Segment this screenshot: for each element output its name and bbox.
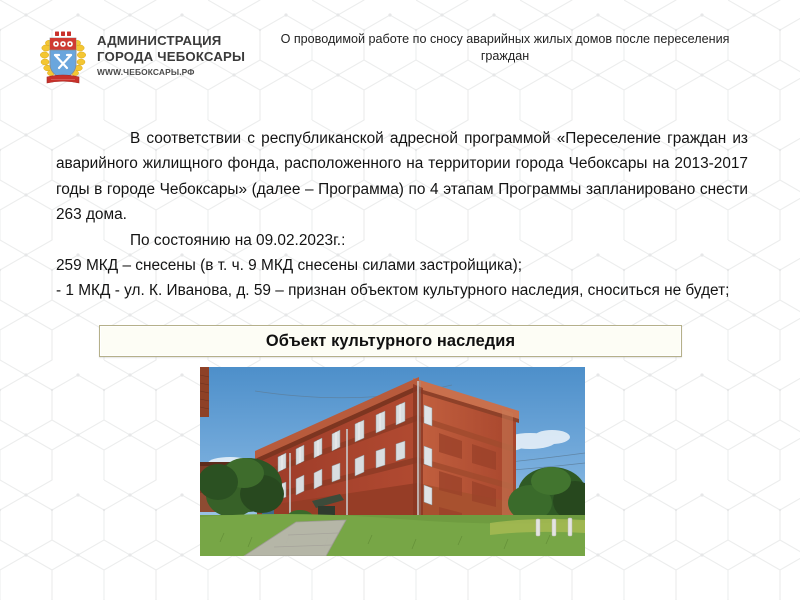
coat-of-arms-icon [38, 28, 88, 86]
paragraph-program-description: В соответствии с республиканской адресно… [56, 126, 748, 228]
administration-logo: АДМИНИСТРАЦИЯ ГОРОДА ЧЕБОКСАРЫ WWW.ЧЕБОК… [38, 28, 245, 86]
line-heritage-exception: - 1 МКД - ул. К. Иванова, д. 59 – призна… [56, 278, 748, 303]
logo-line-administration: АДМИНИСТРАЦИЯ [97, 33, 245, 49]
slide-header: АДМИНИСТРАЦИЯ ГОРОДА ЧЕБОКСАРЫ WWW.ЧЕБОК… [0, 0, 800, 112]
heritage-building-photo: Трёхэтажное историческое здание из красн… [200, 367, 585, 556]
heritage-caption-label: Объект культурного наследия [266, 333, 515, 349]
presentation-slide: АДМИНИСТРАЦИЯ ГОРОДА ЧЕБОКСАРЫ WWW.ЧЕБОК… [0, 0, 800, 600]
line-status-date: По состоянию на 09.02.2023г.: [56, 228, 748, 253]
logo-line-city: ГОРОДА ЧЕБОКСАРЫ [97, 49, 245, 65]
slide-body-text: В соответствии с республиканской адресно… [56, 126, 748, 304]
heritage-caption-banner: Объект культурного наследия [99, 325, 682, 357]
line-demolished-count: 259 МКД – снесены (в т. ч. 9 МКД снесены… [56, 253, 748, 278]
logo-text-block: АДМИНИСТРАЦИЯ ГОРОДА ЧЕБОКСАРЫ WWW.ЧЕБОК… [97, 28, 245, 76]
slide-title: О проводимой работе по сносу аварийных ж… [262, 31, 748, 65]
logo-website-url: WWW.ЧЕБОКСАРЫ.РФ [97, 68, 245, 76]
